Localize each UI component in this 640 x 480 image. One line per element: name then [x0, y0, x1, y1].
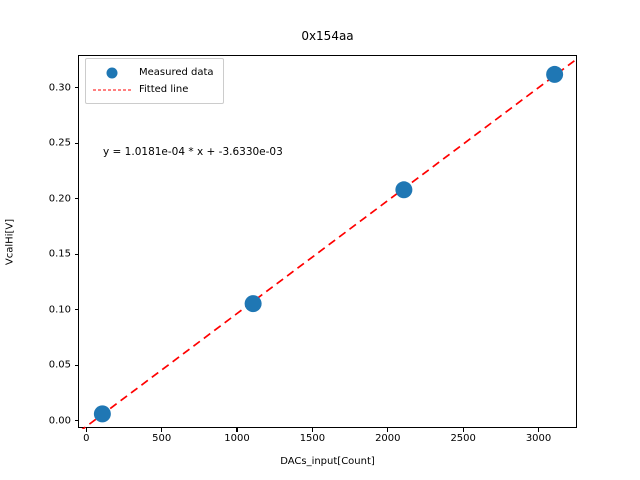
x-tick-label: 1000	[224, 433, 249, 444]
x-tick-mark	[86, 428, 87, 432]
y-tick-mark	[75, 87, 79, 88]
fitted-line	[79, 58, 578, 429]
data-point	[94, 405, 111, 422]
y-tick-label: 0.05	[37, 360, 71, 371]
y-axis-label-container: VcalHi[V]	[0, 55, 20, 428]
legend-item-fitted-line: Fitted line	[93, 81, 214, 98]
legend-item-measured-data: Measured data	[93, 64, 214, 81]
y-tick-label: 0.25	[37, 138, 71, 149]
y-tick-mark	[75, 254, 79, 255]
x-tick-mark	[463, 428, 464, 432]
y-tick-label: 0.30	[37, 82, 71, 93]
x-tick-label: 2000	[375, 433, 400, 444]
filled-circle-marker-icon	[93, 64, 131, 81]
fit-equation-annotation: y = 1.0181e-04 * x + -3.6330e-03	[103, 146, 283, 158]
plot-area	[78, 55, 577, 428]
y-tick-mark	[75, 198, 79, 199]
legend-box: Measured data Fitted line	[85, 58, 224, 104]
fitted-line-series	[79, 58, 578, 429]
x-tick-label: 2500	[450, 433, 475, 444]
data-point	[395, 181, 412, 198]
x-axis-label: DACs_input[Count]	[78, 456, 577, 467]
y-tick-label: 0.20	[37, 193, 71, 204]
y-tick-label: 0.00	[37, 415, 71, 426]
y-tick-label: 0.10	[37, 304, 71, 315]
data-point	[546, 66, 563, 83]
x-tick-mark	[387, 428, 388, 432]
y-axis-label: VcalHi[V]	[5, 218, 16, 264]
x-tick-mark	[161, 428, 162, 432]
x-tick-mark	[538, 428, 539, 432]
data-point	[245, 295, 262, 312]
figure-canvas: 0x154aa 050010001500200025003000 0.000.0…	[0, 0, 640, 480]
y-tick-mark	[75, 309, 79, 310]
x-tick-mark	[312, 428, 313, 432]
y-tick-label: 0.15	[37, 249, 71, 260]
x-tick-label: 3000	[526, 433, 551, 444]
y-tick-mark	[75, 143, 79, 144]
plot-svg	[79, 56, 578, 429]
y-tick-mark	[75, 420, 79, 421]
x-tick-label: 1500	[300, 433, 325, 444]
y-tick-mark	[75, 365, 79, 366]
chart-title: 0x154aa	[78, 29, 577, 43]
x-tick-mark	[236, 428, 237, 432]
legend-item-label: Fitted line	[139, 84, 188, 95]
legend-item-label: Measured data	[139, 67, 214, 78]
x-tick-label: 500	[152, 433, 171, 444]
x-tick-label: 0	[83, 433, 89, 444]
dashed-line-icon	[93, 81, 131, 98]
